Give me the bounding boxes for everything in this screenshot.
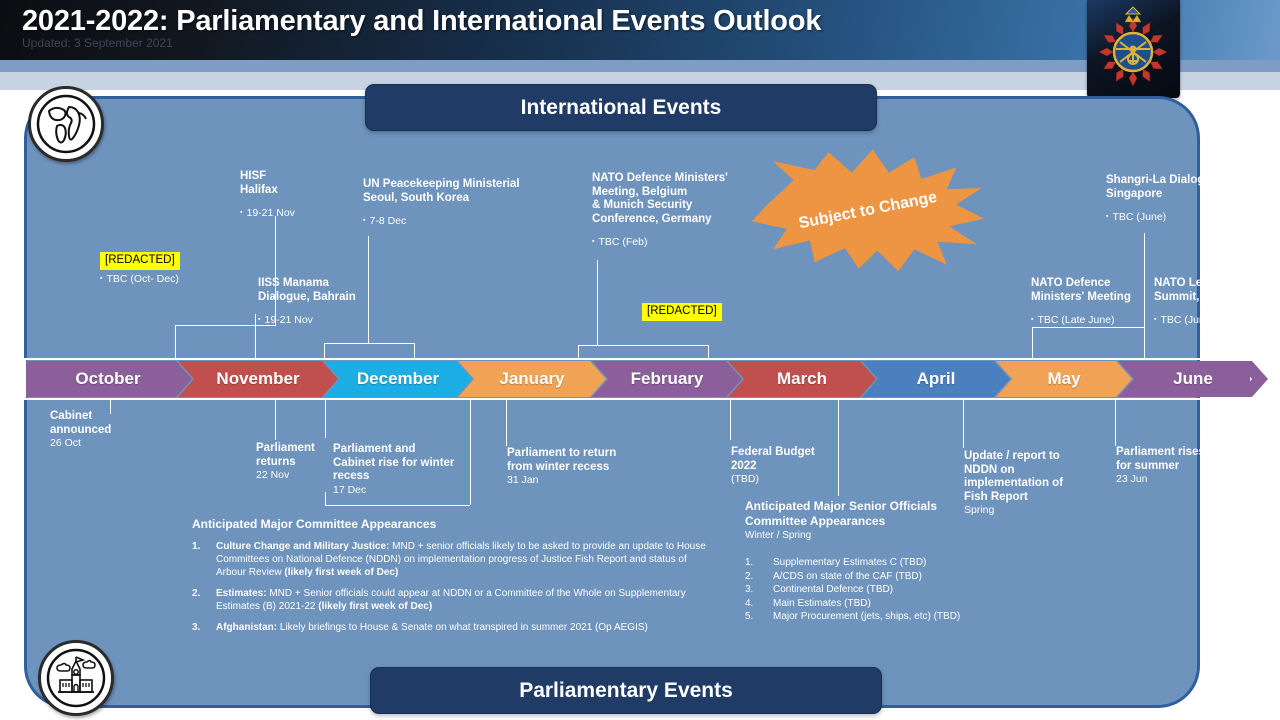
timeline-month-october[interactable]: October xyxy=(24,361,192,397)
timeline-month-label: June xyxy=(1173,369,1213,389)
parliament-building-icon xyxy=(38,640,114,716)
event-title: IISS Manama Dialogue, Bahrain xyxy=(258,277,373,304)
timeline-month-label: March xyxy=(777,369,827,389)
event-title: Cabinet announced xyxy=(50,410,160,437)
list-item-number: 1. xyxy=(745,556,773,570)
timeline-month-label: October xyxy=(75,369,140,389)
leader-line xyxy=(325,400,326,438)
timeline-month-january[interactable]: January xyxy=(458,361,606,397)
list-item-number: 2. xyxy=(192,587,216,613)
list-item-text: Main Estimates (TBD) xyxy=(773,597,871,611)
leader-line xyxy=(1144,327,1145,358)
event-title: Parliament rises for summer xyxy=(1116,446,1226,473)
redacted-tag: [REDACTED] xyxy=(642,303,722,321)
event-date: 17 Dec xyxy=(333,484,468,497)
international-event-nato-dmm-june: NATO Defence Ministers' Meeting TBC (Lat… xyxy=(1031,277,1146,327)
event-date: TBC (Late June) xyxy=(1031,313,1146,327)
parliamentary-event-cabinet-announced: Cabinet announced 26 Oct xyxy=(50,410,160,450)
anticipated-senior-officials-block: Anticipated Major Senior Officials Commi… xyxy=(745,499,1055,624)
parliamentary-event-rises-for-summer: Parliament rises for summer 23 Jun xyxy=(1116,446,1226,486)
event-title: NATO Defence Ministers' Meeting, Belgium… xyxy=(592,172,757,226)
committee-list-item: 2.Estimates: MND + Senior officials coul… xyxy=(192,587,708,613)
block-subheading: Winter / Spring xyxy=(745,529,1055,542)
anticipated-committee-appearances-block: Anticipated Major Committee Appearances … xyxy=(192,517,708,634)
list-item-text: Culture Change and Military Justice: MND… xyxy=(216,540,708,579)
list-item-text: Major Procurement (jets, ships, etc) (TB… xyxy=(773,610,960,624)
event-title: NATO Defence Ministers' Meeting xyxy=(1031,277,1146,304)
slide-canvas: 2021-2022: Parliamentary and Internation… xyxy=(0,0,1280,720)
timeline-month-march[interactable]: March xyxy=(728,361,876,397)
event-date: 22 Nov xyxy=(256,469,326,482)
event-title: Federal Budget 2022 xyxy=(731,446,841,473)
event-date: 19-21 Nov xyxy=(240,206,360,220)
international-event-iiss-manama: IISS Manama Dialogue, Bahrain 19-21 Nov xyxy=(258,277,373,327)
leader-line xyxy=(730,400,731,440)
list-item-text: Continental Defence (TBD) xyxy=(773,583,893,597)
senior-officials-list-item: 5.Major Procurement (jets, ships, etc) (… xyxy=(745,610,1055,624)
leader-line xyxy=(325,492,326,505)
list-item-number: 3. xyxy=(192,621,216,634)
leader-line xyxy=(1115,400,1116,446)
international-event-nato-leaders-summit: NATO Leaders' Summit, Madrid TBC (June-J… xyxy=(1154,277,1264,327)
event-title: Parliament returns xyxy=(256,442,326,469)
timeline-month-label: February xyxy=(631,369,704,389)
timeline-month-label: April xyxy=(917,369,956,389)
senior-officials-list: 1.Supplementary Estimates C (TBD)2.A/CDS… xyxy=(745,556,1055,624)
event-title: NATO Leaders' Summit, Madrid xyxy=(1154,277,1264,304)
event-title: UN Peacekeeping Ministerial Seoul, South… xyxy=(363,178,543,205)
international-event: TBC (Oct- Dec) xyxy=(100,272,230,286)
committee-list: 1.Culture Change and Military Justice: M… xyxy=(192,540,708,634)
list-item-text: Afghanistan: Likely briefings to House &… xyxy=(216,621,708,634)
leader-line xyxy=(324,343,414,344)
event-date: TBC (Oct- Dec) xyxy=(100,272,230,286)
parliamentary-event-federal-budget: Federal Budget 2022 (TBD) xyxy=(731,446,841,486)
event-date: 19-21 Nov xyxy=(258,313,373,327)
leader-line xyxy=(1032,327,1144,328)
leader-line xyxy=(578,345,579,358)
international-event-un-peacekeeping: UN Peacekeeping Ministerial Seoul, South… xyxy=(363,178,543,228)
event-date: 23 Jun xyxy=(1116,473,1226,486)
timeline-month-december[interactable]: December xyxy=(324,361,472,397)
leader-line xyxy=(963,400,964,448)
list-item-number: 4. xyxy=(745,597,773,611)
committee-list-item: 1.Culture Change and Military Justice: M… xyxy=(192,540,708,579)
timeline-month-label: January xyxy=(499,369,564,389)
leader-line xyxy=(324,343,325,358)
timeline-month-june[interactable]: June xyxy=(1118,361,1268,397)
list-item-number: 1. xyxy=(192,540,216,579)
leader-line xyxy=(1032,327,1033,358)
timeline-month-november[interactable]: November xyxy=(178,361,338,397)
leader-line xyxy=(708,345,709,358)
block-heading: Anticipated Major Committee Appearances xyxy=(192,517,708,532)
leader-line xyxy=(578,345,708,346)
list-item-number: 5. xyxy=(745,610,773,624)
international-event-shangri-la: Shangri-La Dialogue, Singapore TBC (June… xyxy=(1106,174,1256,224)
list-item-number: 3. xyxy=(745,583,773,597)
redacted-tag: [REDACTED] xyxy=(100,252,180,270)
event-title: Update / report to NDDN on implementatio… xyxy=(964,450,1084,504)
last-updated-label: Updated: 3 September 2021 xyxy=(22,36,173,50)
event-date: TBC (Feb) xyxy=(592,235,757,249)
leader-line xyxy=(414,343,415,358)
event-title: Parliament to return from winter recess xyxy=(507,447,647,474)
event-date: 26 Oct xyxy=(50,437,160,450)
event-date: (TBD) xyxy=(731,473,841,486)
senior-officials-list-item: 3.Continental Defence (TBD) xyxy=(745,583,1055,597)
leader-line xyxy=(255,314,256,358)
timeline-month-label: December xyxy=(357,369,439,389)
timeline-month-label: November xyxy=(216,369,299,389)
leader-line xyxy=(506,400,507,446)
leader-line xyxy=(325,505,470,506)
senior-officials-list-item: 1.Supplementary Estimates C (TBD) xyxy=(745,556,1055,570)
leader-line xyxy=(175,325,176,358)
list-item-text: A/CDS on state of the CAF (TBD) xyxy=(773,570,922,584)
canadian-armed-forces-crest-icon xyxy=(1087,0,1180,98)
parliamentary-event-return-from-recess: Parliament to return from winter recess … xyxy=(507,447,647,487)
list-item-number: 2. xyxy=(745,570,773,584)
timeline-month-april[interactable]: April xyxy=(862,361,1010,397)
leader-line xyxy=(597,260,598,345)
event-title: Parliament and Cabinet rise for winter r… xyxy=(333,443,468,484)
block-heading: Anticipated Major Senior Officials Commi… xyxy=(745,499,1055,529)
timeline-month-label: May xyxy=(1047,369,1080,389)
event-date: 7-8 Dec xyxy=(363,214,543,228)
banner-parliamentary-events: Parliamentary Events xyxy=(370,667,882,714)
international-event-nato-dmm-munich: NATO Defence Ministers' Meeting, Belgium… xyxy=(592,172,757,249)
senior-officials-list-item: 2.A/CDS on state of the CAF (TBD) xyxy=(745,570,1055,584)
event-title: HISF Halifax xyxy=(240,170,360,197)
globe-icon xyxy=(28,86,104,162)
list-item-text: Supplementary Estimates C (TBD) xyxy=(773,556,926,570)
event-date: 31 Jan xyxy=(507,474,647,487)
parliamentary-event-parliament-returns: Parliament returns 22 Nov xyxy=(256,442,326,482)
parliamentary-event-winter-recess: Parliament and Cabinet rise for winter r… xyxy=(333,443,468,497)
timeline-month-february[interactable]: February xyxy=(592,361,742,397)
leader-line xyxy=(1228,333,1229,358)
event-date: TBC (June) xyxy=(1106,210,1256,224)
timeline-month-may[interactable]: May xyxy=(996,361,1132,397)
committee-list-item: 3.Afghanistan: Likely briefings to House… xyxy=(192,621,708,634)
page-title: 2021-2022: Parliamentary and Internation… xyxy=(22,5,821,38)
leader-line xyxy=(275,400,276,440)
event-date: TBC (June-July) xyxy=(1154,313,1264,327)
banner-international-events: International Events xyxy=(365,84,877,131)
international-event-hisf-halifax: HISF Halifax 19-21 Nov xyxy=(240,170,360,220)
list-item-text: Estimates: MND + Senior officials could … xyxy=(216,587,708,613)
senior-officials-list-item: 4.Main Estimates (TBD) xyxy=(745,597,1055,611)
event-title: Shangri-La Dialogue, Singapore xyxy=(1106,174,1256,201)
leader-line xyxy=(470,400,471,505)
